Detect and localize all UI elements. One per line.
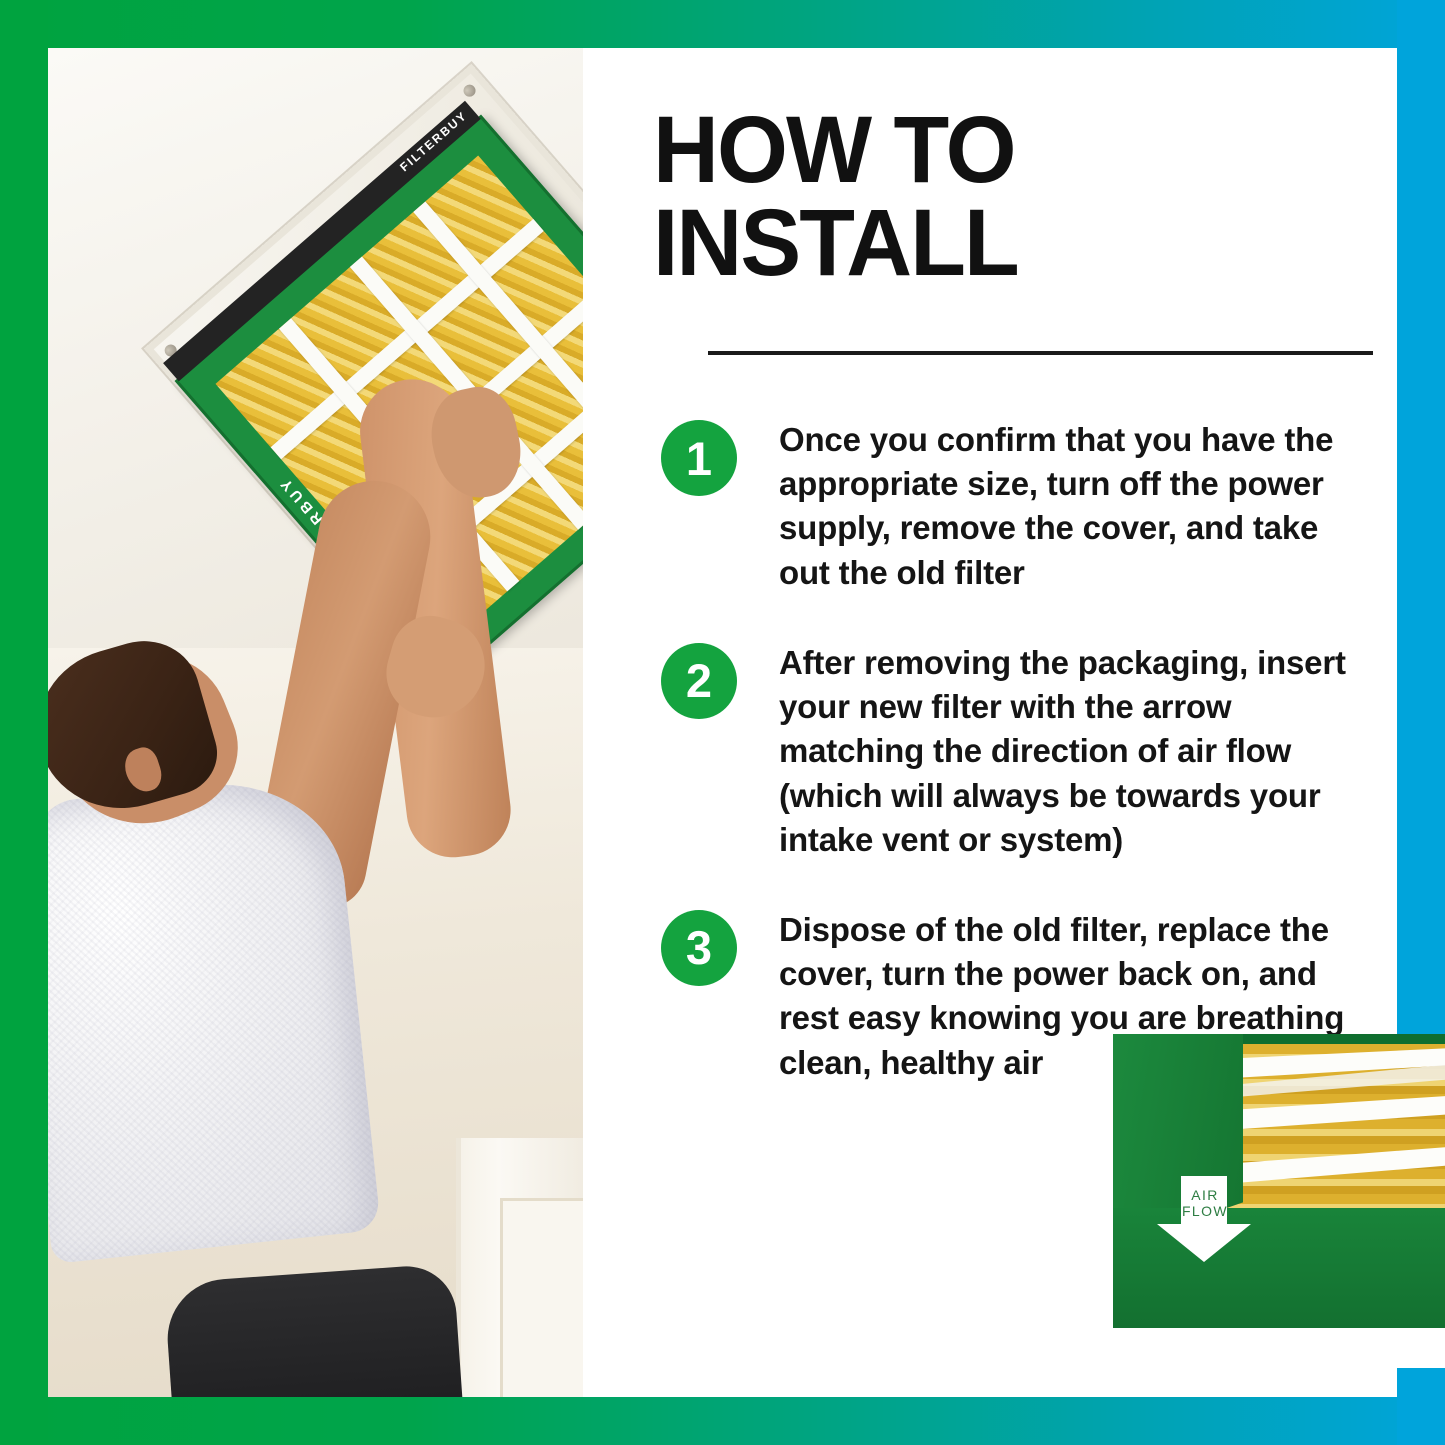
step-item: 1 Once you confirm that you have the app… (653, 418, 1383, 595)
photo-person-shirt (48, 772, 381, 1264)
page-title: HOW TO INSTALL (653, 104, 1325, 290)
photo-shirt-texture (48, 772, 381, 1264)
product-filter-front-face: AIR FLOW (1113, 1208, 1445, 1328)
frame-border-left (0, 0, 48, 1445)
step-number-badge: 3 (661, 910, 737, 986)
step-number-badge: 2 (661, 643, 737, 719)
step-description: After removing the packaging, insert you… (779, 641, 1359, 862)
title-divider (708, 351, 1373, 355)
step-description: Once you confirm that you have the appro… (779, 418, 1359, 595)
step-number-badge: 1 (661, 420, 737, 496)
step-item: 2 After removing the packaging, insert y… (653, 641, 1383, 862)
product-image-bottom-margin (1113, 1328, 1445, 1368)
frame-border-bottom (0, 1397, 1445, 1445)
air-flow-label: AIR FLOW (1165, 1187, 1245, 1220)
photo-door-panel (500, 1198, 583, 1397)
installation-photo: FILTERBUY FILTERBUY (48, 48, 583, 1397)
photo-person-pants (164, 1263, 463, 1397)
product-filter-image: FILTERBUY AIR FLOW (1113, 1028, 1445, 1368)
steps-list: 1 Once you confirm that you have the app… (653, 418, 1383, 1131)
frame-border-top (0, 0, 1445, 48)
vent-screw (461, 82, 478, 99)
poster-root: FILTERBUY FILTERBUY (0, 0, 1445, 1445)
